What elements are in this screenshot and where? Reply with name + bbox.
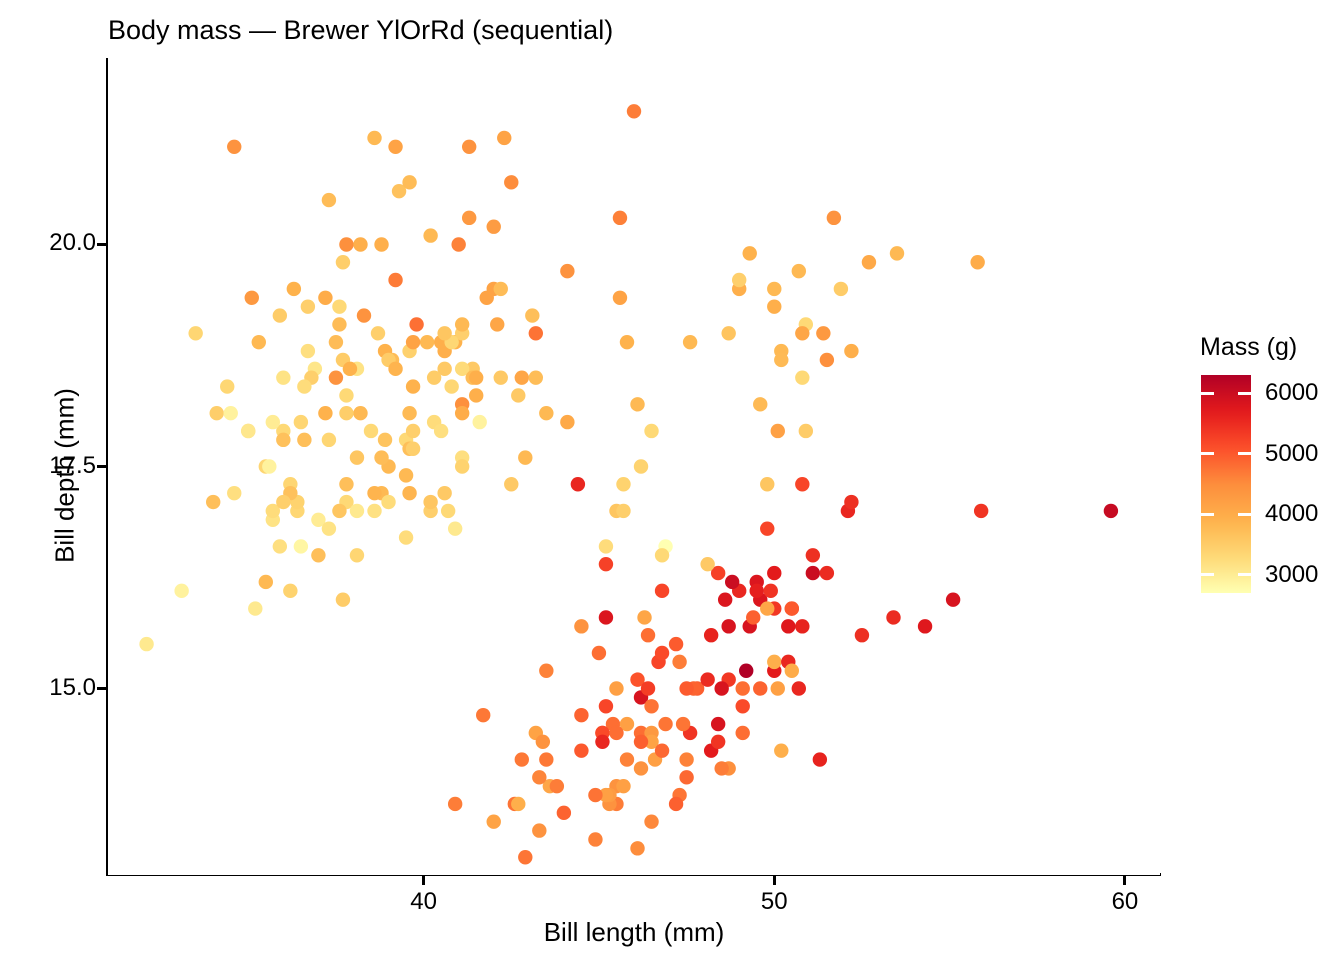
data-point	[767, 566, 781, 580]
legend-tick-mark	[1238, 452, 1251, 455]
data-point	[753, 397, 767, 411]
data-point	[774, 743, 788, 757]
data-point	[399, 530, 413, 544]
data-point	[890, 246, 904, 260]
data-point	[402, 406, 416, 420]
data-point	[451, 237, 465, 251]
data-point	[420, 335, 434, 349]
data-point	[806, 566, 820, 580]
data-point	[455, 406, 469, 420]
data-point	[487, 220, 501, 234]
data-point	[311, 548, 325, 562]
data-point	[862, 255, 876, 269]
data-point	[588, 788, 602, 802]
data-point	[620, 335, 634, 349]
data-point	[753, 681, 767, 695]
data-point	[294, 415, 308, 429]
data-point	[669, 637, 683, 651]
data-point	[676, 717, 690, 731]
data-point	[795, 477, 809, 491]
data-point	[785, 601, 799, 615]
data-point	[273, 308, 287, 322]
data-point	[669, 797, 683, 811]
data-point	[322, 193, 336, 207]
data-point	[655, 584, 669, 598]
data-point	[343, 362, 357, 376]
data-point	[700, 557, 714, 571]
data-point	[792, 681, 806, 695]
data-point	[655, 743, 669, 757]
data-point	[700, 672, 714, 686]
data-point	[294, 539, 308, 553]
data-point	[276, 433, 290, 447]
data-point	[388, 362, 402, 376]
data-point	[266, 415, 280, 429]
data-point	[844, 495, 858, 509]
data-point	[721, 326, 735, 340]
data-point	[469, 371, 483, 385]
data-point	[297, 433, 311, 447]
data-point	[679, 681, 693, 695]
data-point	[595, 735, 609, 749]
data-point	[844, 344, 858, 358]
data-point	[634, 459, 648, 473]
data-point	[444, 379, 458, 393]
data-point	[434, 424, 448, 438]
data-point	[771, 681, 785, 695]
legend-tick-mark	[1201, 513, 1214, 516]
legend-tick-label: 3000	[1265, 561, 1318, 589]
data-point	[834, 282, 848, 296]
data-point	[574, 708, 588, 722]
data-point	[918, 619, 932, 633]
data-point	[532, 770, 546, 784]
data-point	[574, 743, 588, 757]
data-point	[644, 424, 658, 438]
data-point	[339, 388, 353, 402]
data-point	[339, 477, 353, 491]
data-point	[539, 752, 553, 766]
data-point	[532, 823, 546, 837]
data-point	[318, 291, 332, 305]
data-point	[399, 468, 413, 482]
data-point	[679, 752, 693, 766]
data-point	[322, 433, 336, 447]
data-point	[711, 735, 725, 749]
data-point	[613, 291, 627, 305]
data-point	[441, 504, 455, 518]
data-point	[297, 379, 311, 393]
data-point	[276, 495, 290, 509]
data-point	[827, 211, 841, 225]
data-point	[795, 619, 809, 633]
data-point	[721, 619, 735, 633]
data-point	[599, 699, 613, 713]
data-point	[774, 353, 788, 367]
data-point	[273, 539, 287, 553]
data-point	[448, 797, 462, 811]
data-point	[220, 379, 234, 393]
data-point	[767, 299, 781, 313]
data-point	[771, 424, 785, 438]
data-point	[539, 406, 553, 420]
x-tick-mark	[773, 876, 776, 885]
data-point	[371, 326, 385, 340]
data-point	[504, 477, 518, 491]
data-point	[224, 406, 238, 420]
data-point	[658, 717, 672, 731]
legend-tick-label: 6000	[1265, 379, 1318, 407]
data-point	[616, 779, 630, 793]
x-axis-title: Bill length (mm)	[0, 917, 1268, 948]
data-point	[599, 610, 613, 624]
data-point	[1104, 504, 1118, 518]
data-point	[813, 752, 827, 766]
data-point	[252, 335, 266, 349]
data-point	[409, 317, 423, 331]
data-point	[511, 388, 525, 402]
data-point	[736, 681, 750, 695]
legend-tick-mark	[1201, 573, 1214, 576]
data-point	[480, 291, 494, 305]
data-point	[718, 593, 732, 607]
data-point	[367, 131, 381, 145]
data-point	[725, 575, 739, 589]
data-point	[301, 299, 315, 313]
y-tick-mark	[97, 465, 106, 468]
data-point	[672, 655, 686, 669]
data-point	[732, 273, 746, 287]
x-tick-mark	[422, 876, 425, 885]
data-point	[329, 335, 343, 349]
data-point	[714, 681, 728, 695]
data-point	[245, 291, 259, 305]
data-point	[518, 450, 532, 464]
data-point	[795, 371, 809, 385]
data-point	[609, 726, 623, 740]
data-point	[262, 459, 276, 473]
data-point	[322, 521, 336, 535]
data-point	[806, 548, 820, 562]
data-point	[378, 433, 392, 447]
legend-tick-mark	[1201, 452, 1214, 455]
data-point	[406, 442, 420, 456]
data-point	[332, 504, 346, 518]
data-point	[764, 584, 778, 598]
data-point	[655, 646, 669, 660]
data-point	[613, 211, 627, 225]
data-point	[529, 326, 543, 340]
data-point	[406, 379, 420, 393]
data-point	[525, 308, 539, 322]
data-point	[515, 371, 529, 385]
data-point	[627, 104, 641, 118]
data-point	[781, 619, 795, 633]
data-point	[616, 477, 630, 491]
data-point	[739, 664, 753, 678]
scatter-plot-figure: Body mass — Brewer YlOrRd (sequential) 1…	[0, 0, 1344, 960]
data-point	[743, 246, 757, 260]
data-point	[494, 282, 508, 296]
data-point	[816, 326, 830, 340]
data-point	[529, 371, 543, 385]
data-point	[592, 646, 606, 660]
data-point	[367, 486, 381, 500]
data-point	[462, 140, 476, 154]
data-point	[795, 326, 809, 340]
data-point	[599, 557, 613, 571]
data-point	[437, 486, 451, 500]
data-point	[641, 628, 655, 642]
data-point	[487, 815, 501, 829]
data-points-layer	[108, 58, 1160, 875]
data-point	[227, 486, 241, 500]
legend-tick-label: 5000	[1265, 440, 1318, 468]
data-point	[550, 779, 564, 793]
x-tick-label: 40	[410, 888, 437, 916]
y-tick-mark	[97, 243, 106, 246]
data-point	[339, 406, 353, 420]
data-point	[536, 735, 550, 749]
legend-tick-mark	[1201, 392, 1214, 395]
data-point	[174, 584, 188, 598]
data-point	[820, 566, 834, 580]
data-point	[750, 584, 764, 598]
data-point	[350, 504, 364, 518]
data-point	[364, 424, 378, 438]
data-point	[469, 388, 483, 402]
data-point	[599, 539, 613, 553]
data-point	[655, 548, 669, 562]
data-point	[423, 495, 437, 509]
legend-tick-mark	[1238, 573, 1251, 576]
data-point	[476, 708, 490, 722]
data-point	[679, 770, 693, 784]
data-point	[381, 495, 395, 509]
data-point	[767, 282, 781, 296]
data-point	[746, 610, 760, 624]
data-point	[374, 450, 388, 464]
data-point	[644, 699, 658, 713]
data-point	[332, 317, 346, 331]
data-point	[634, 761, 648, 775]
data-point	[855, 628, 869, 642]
data-point	[139, 637, 153, 651]
data-point	[353, 406, 367, 420]
data-point	[504, 175, 518, 189]
data-point	[946, 593, 960, 607]
data-point	[974, 504, 988, 518]
data-point	[353, 237, 367, 251]
data-point	[588, 832, 602, 846]
data-point	[437, 326, 451, 340]
data-point	[711, 717, 725, 731]
data-point	[518, 850, 532, 864]
data-point	[241, 424, 255, 438]
data-point	[785, 664, 799, 678]
data-point	[339, 237, 353, 251]
data-point	[560, 264, 574, 278]
x-tick-mark	[1123, 876, 1126, 885]
data-point	[367, 504, 381, 518]
data-point	[329, 371, 343, 385]
data-point	[301, 344, 315, 358]
data-point	[792, 264, 806, 278]
data-point	[276, 371, 290, 385]
data-point	[886, 610, 900, 624]
data-point	[970, 255, 984, 269]
data-point	[188, 326, 202, 340]
page-title: Body mass — Brewer YlOrRd (sequential)	[108, 14, 613, 46]
data-point	[820, 353, 834, 367]
data-point	[448, 521, 462, 535]
data-point	[714, 761, 728, 775]
data-point	[620, 752, 634, 766]
data-point	[318, 406, 332, 420]
data-point	[402, 486, 416, 500]
data-point	[350, 450, 364, 464]
data-point	[497, 131, 511, 145]
data-point	[637, 610, 651, 624]
x-tick-label: 50	[761, 888, 788, 916]
data-point	[494, 371, 508, 385]
data-point	[736, 699, 750, 713]
data-point	[206, 495, 220, 509]
data-point	[336, 255, 350, 269]
data-point	[799, 424, 813, 438]
data-point	[473, 415, 487, 429]
data-point	[388, 273, 402, 287]
data-point	[402, 175, 416, 189]
data-point	[259, 575, 273, 589]
data-point	[760, 477, 774, 491]
data-point	[248, 601, 262, 615]
y-tick-mark	[97, 687, 106, 690]
data-point	[406, 335, 420, 349]
data-point	[455, 317, 469, 331]
data-point	[634, 735, 648, 749]
data-point	[336, 593, 350, 607]
data-point	[683, 335, 697, 349]
data-point	[760, 521, 774, 535]
data-point	[283, 584, 297, 598]
data-point	[210, 406, 224, 420]
data-point	[423, 228, 437, 242]
y-axis-title: Bill depth (mm)	[50, 66, 81, 886]
data-point	[574, 619, 588, 633]
data-point	[704, 628, 718, 642]
data-point	[455, 459, 469, 473]
data-point	[462, 211, 476, 225]
data-point	[374, 237, 388, 251]
data-point	[760, 601, 774, 615]
data-point	[490, 317, 504, 331]
data-point	[357, 308, 371, 322]
legend-colorbar	[1201, 375, 1251, 593]
legend-tick-mark	[1238, 392, 1251, 395]
data-point	[560, 415, 574, 429]
data-point	[641, 681, 655, 695]
legend-tick-mark	[1238, 513, 1251, 516]
data-point	[539, 664, 553, 678]
data-point	[515, 752, 529, 766]
legend-tick-label: 4000	[1265, 500, 1318, 528]
data-point	[736, 726, 750, 740]
data-point	[609, 681, 623, 695]
data-point	[644, 815, 658, 829]
data-point	[630, 397, 644, 411]
data-point	[616, 504, 630, 518]
data-point	[388, 140, 402, 154]
data-point	[332, 299, 346, 313]
data-point	[287, 282, 301, 296]
plot-panel	[108, 58, 1160, 875]
data-point	[511, 797, 525, 811]
data-point	[557, 806, 571, 820]
data-point	[350, 548, 364, 562]
data-point	[427, 371, 441, 385]
data-point	[630, 841, 644, 855]
data-point	[406, 424, 420, 438]
x-tick-label: 60	[1112, 888, 1139, 916]
legend-colorbar-wrap: 3000400050006000	[1201, 375, 1251, 593]
legend-title: Mass (g)	[1200, 333, 1297, 362]
data-point	[227, 140, 241, 154]
data-point	[571, 477, 585, 491]
data-point	[767, 655, 781, 669]
